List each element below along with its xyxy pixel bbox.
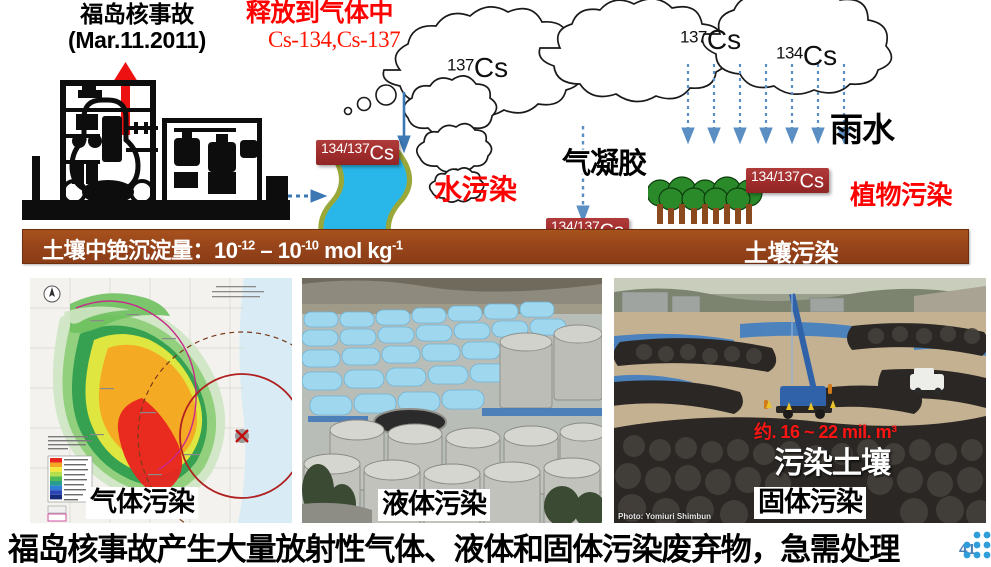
panel-solid-contamination[interactable]: 约. 16 ~ 22 mil. m³ 污染土壤 固体污染 Photo: Yomi… — [612, 276, 988, 525]
cs-tag-element: Cs — [370, 142, 394, 164]
aerosol-label: 气凝胶 — [562, 140, 646, 182]
accident-title-line2: (Mar.11.2011) — [22, 28, 252, 54]
accident-title-line1: 福岛核事故 — [22, 2, 252, 28]
nuclear-plant-illustration — [22, 72, 290, 232]
soil-deposition-text: 土壤中铯沉淀量：10-12 – 10-10 mol kg-1 — [42, 233, 403, 265]
soil-pollution-label: 土壤污染 — [744, 233, 838, 268]
cs-element-symbol: Cs — [474, 52, 508, 83]
soil-exp-2: -10 — [301, 238, 318, 253]
release-title: 释放到气体中 — [246, 0, 393, 26]
slide-canvas: 释放到气体中 — [0, 0, 991, 567]
cs-mass-number: 134 — [776, 44, 803, 63]
soil-text-middle: – 10 — [255, 238, 301, 263]
soil-text-suffix: mol kg — [319, 238, 393, 263]
release-isotopes: Cs-134,Cs-137 — [268, 27, 400, 53]
panel-caption-solid: 固体污染 — [754, 487, 866, 519]
cs-tag-river: 134/137Cs — [316, 140, 399, 165]
cs-tag-plant: 134/137Cs — [746, 168, 829, 193]
cs-mass-number: 137 — [447, 56, 474, 75]
panel-liquid-contamination[interactable]: 液体污染 — [300, 276, 604, 525]
plant-pollution-label: 植物污染 — [850, 175, 952, 212]
soil-exp-1: -12 — [237, 238, 254, 253]
contaminated-soil-label: 污染土壤 — [774, 438, 890, 482]
rain-label: 雨水 — [830, 103, 894, 151]
panel-caption-liquid: 液体污染 — [378, 489, 490, 521]
accident-title: 福岛核事故 (Mar.11.2011) — [22, 2, 252, 54]
cs-label-sky-3: 134Cs — [776, 40, 837, 72]
panel-gas-contamination-map[interactable]: 气体污染 — [28, 276, 294, 525]
cs-element-symbol: Cs — [803, 40, 837, 71]
summary-caption: 福岛核事故产生大量放射性气体、液体和固体污染废弃物，急需处理 — [8, 524, 899, 567]
corner-dots-decoration — [951, 527, 991, 567]
cs-tag-element: Cs — [800, 170, 824, 192]
cs-element-symbol: Cs — [707, 24, 741, 55]
water-tanks-photo — [302, 278, 602, 523]
cs-label-sky-1: 137Cs — [447, 52, 508, 84]
cs-tag-mass: 134/137 — [751, 168, 800, 184]
soil-exp-3: -1 — [392, 238, 403, 253]
cs-label-sky-2: 137Cs — [680, 24, 741, 56]
panel-caption-gas: 气体污染 — [86, 487, 198, 519]
cs-mass-number: 137 — [680, 28, 707, 47]
soil-text-prefix: 土壤中铯沉淀量：10 — [42, 238, 237, 263]
water-pollution-label: 水污染 — [434, 168, 517, 208]
photo-credit: Photo: Yomiuri Shimbun — [618, 512, 711, 521]
cs-tag-mass: 134/137 — [321, 140, 370, 156]
